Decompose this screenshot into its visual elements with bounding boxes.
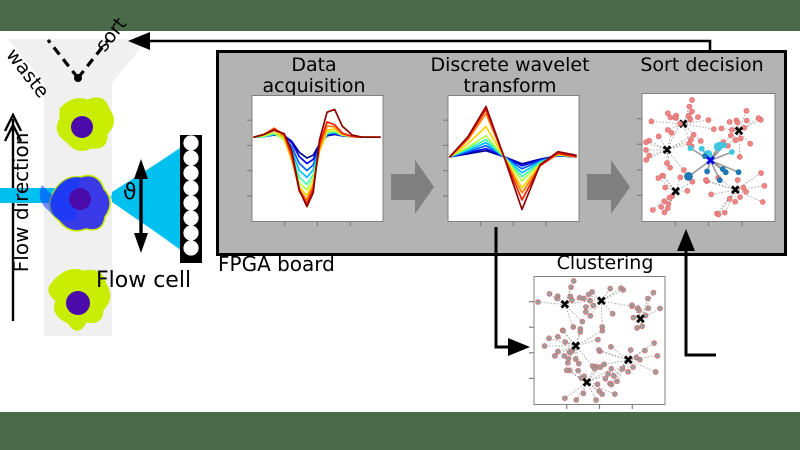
svg-text:✖: ✖	[670, 185, 681, 200]
figure-stage: Flow direction waste sort ϑ Flow cell FP…	[0, 0, 800, 450]
svg-text:✖: ✖	[570, 340, 581, 355]
theta-label: ϑ	[123, 181, 137, 206]
svg-text:✖: ✖	[635, 312, 646, 327]
theta-arrow-up	[134, 159, 148, 179]
flow-direction-label: Flow direction	[10, 142, 32, 272]
svg-text:✖: ✖	[730, 184, 741, 199]
theta-arrow-down	[134, 233, 148, 253]
svg-text:✖: ✖	[559, 298, 570, 313]
plot-clustering: ✖✖✖✖✖✖	[526, 276, 666, 416]
connector-dwt-to-clustering	[460, 227, 540, 367]
panel-title-clustering: Clustering	[520, 253, 690, 274]
svg-text:✖: ✖	[596, 295, 607, 310]
arrow-dwt-to-sort	[587, 156, 631, 218]
svg-text:✖: ✖	[623, 354, 634, 369]
svg-text:✖: ✖	[705, 154, 716, 169]
panel-title-data-acquisition: Data acquisition	[240, 55, 388, 98]
svg-text:✖: ✖	[662, 144, 673, 159]
split-point	[74, 74, 82, 82]
plot-sort-decision: ✖✖✖✖✖✖	[634, 93, 776, 233]
panel-title-dwt: Discrete wavelet transform	[420, 55, 600, 98]
figure-canvas: Flow direction waste sort ϑ Flow cell FP…	[0, 31, 800, 412]
connector-clustering-to-sort	[676, 227, 736, 367]
panel-title-sort-decision: Sort decision	[622, 55, 782, 76]
flow-cell-label: Flow cell	[96, 269, 191, 294]
svg-text:✖: ✖	[734, 125, 745, 140]
plot-data-acquisition	[244, 95, 384, 231]
svg-text:✖: ✖	[581, 376, 592, 391]
arrow-acquisition-to-dwt	[391, 156, 435, 218]
fpga-board-label: FPGA board	[218, 253, 335, 275]
plot-discrete-wavelet-transform	[440, 95, 580, 231]
